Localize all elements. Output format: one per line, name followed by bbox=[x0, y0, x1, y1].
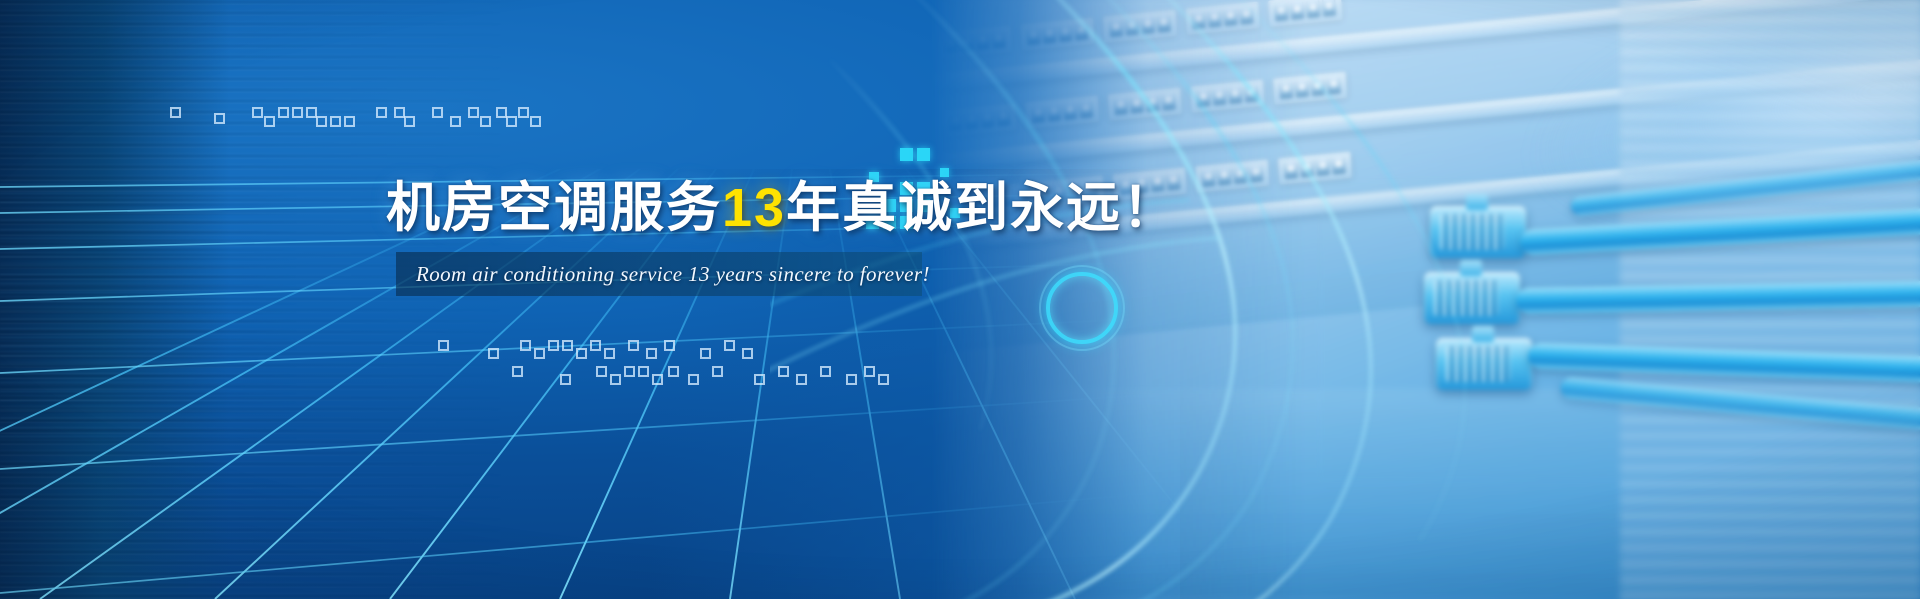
vignette-overlay bbox=[0, 0, 1920, 599]
banner-root: 机房空调服务13年真诚到永远！ Room air conditioning se… bbox=[0, 0, 1920, 599]
